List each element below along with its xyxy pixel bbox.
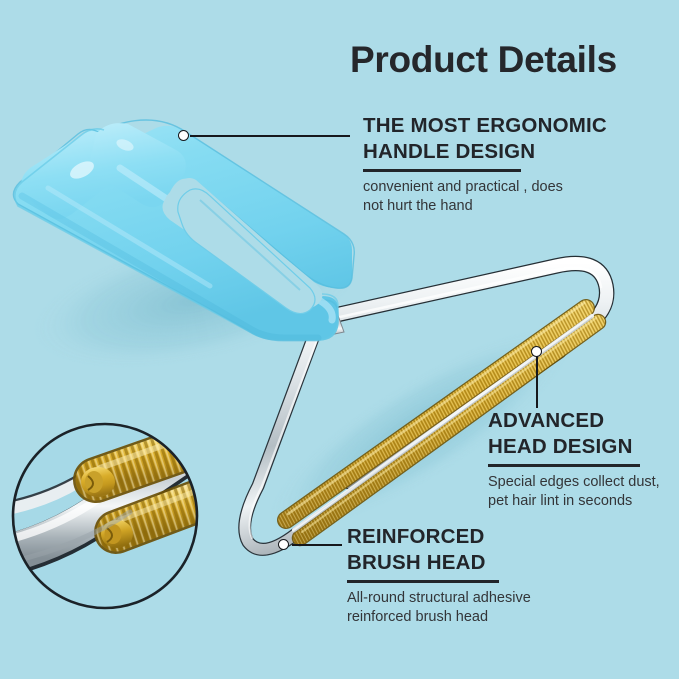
callout-ergonomic-handle: THE MOST ERGONOMIC HANDLE DESIGN conveni…: [363, 113, 607, 216]
callout-underline: [488, 464, 640, 467]
callout-heading-line2: HEAD DESIGN: [488, 434, 660, 460]
leader-line-brush: [292, 544, 342, 546]
callout-sub-line2: pet hair lint in seconds: [488, 492, 660, 511]
blue-handle: [13, 120, 354, 340]
callout-sub-line1: All-round structural adhesive: [347, 589, 531, 608]
magnifier-closeup: [0, 412, 230, 616]
callout-sub-line1: Special edges collect dust,: [488, 473, 660, 492]
callout-heading-line1: THE MOST ERGONOMIC: [363, 113, 607, 139]
leader-line-head: [536, 356, 538, 408]
callout-sub-line2: not hurt the hand: [363, 197, 607, 216]
callout-reinforced-brush-head: REINFORCED BRUSH HEAD All-round structur…: [347, 524, 531, 627]
leader-dot-brush: [278, 539, 289, 550]
callout-heading-line1: ADVANCED: [488, 408, 660, 434]
page-title: Product Details: [350, 38, 640, 82]
callout-underline: [347, 580, 499, 583]
callout-heading-line1: REINFORCED: [347, 524, 531, 550]
callout-heading-line2: HANDLE DESIGN: [363, 139, 607, 165]
callout-sub-line1: convenient and practical , does: [363, 178, 607, 197]
leader-dot-handle: [178, 130, 189, 141]
callout-heading-line2: BRUSH HEAD: [347, 550, 531, 576]
callout-advanced-head: ADVANCED HEAD DESIGN Special edges colle…: [488, 408, 660, 511]
leader-dot-head: [531, 346, 542, 357]
callout-sub-line2: reinforced brush head: [347, 608, 531, 627]
callout-underline: [363, 169, 521, 172]
product-details-infographic: Product Details THE MOST ERGONOMIC HANDL…: [0, 0, 679, 679]
product-illustration: [0, 0, 679, 679]
leader-line-handle: [190, 135, 350, 137]
